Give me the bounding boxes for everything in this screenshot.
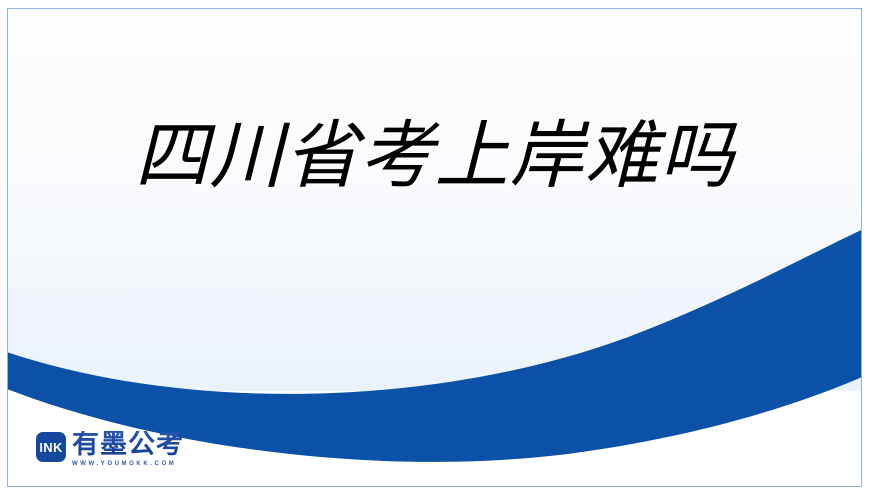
poster-page: 四川省考上岸难吗 INK 有墨公考 WWW.YOUMOKK.COM: [0, 0, 870, 498]
poster-card: 四川省考上岸难吗 INK 有墨公考 WWW.YOUMOKK.COM: [7, 8, 862, 487]
brand-logo: INK 有墨公考 WWW.YOUMOKK.COM: [36, 431, 184, 468]
brand-url: WWW.YOUMOKK.COM: [72, 460, 184, 468]
blue-wave-decoration: [8, 9, 861, 486]
brand-logo-text: 有墨公考 WWW.YOUMOKK.COM: [72, 431, 184, 468]
brand-name: 有墨公考: [72, 431, 184, 459]
ink-badge-icon: INK: [36, 432, 66, 462]
